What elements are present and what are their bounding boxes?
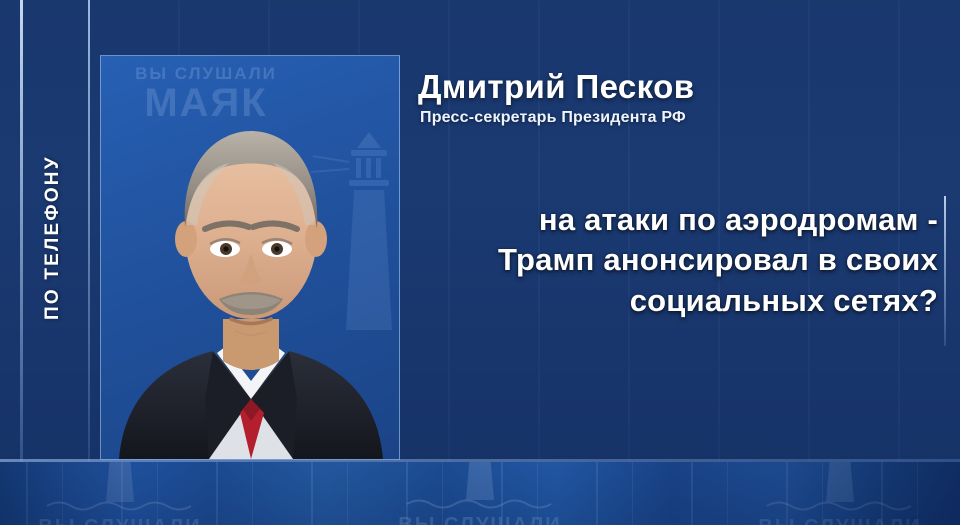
quote-line: на атаки по аэродромам - xyxy=(418,200,938,240)
quote-line: Трамп анонсировал в своих xyxy=(418,240,938,280)
quote-line: социальных сетях? xyxy=(418,281,938,321)
speaker-role: Пресс-секретарь Президента РФ xyxy=(420,109,686,127)
speaker-portrait-image xyxy=(101,99,400,459)
speaker-name: Дмитрий Песков xyxy=(418,68,694,106)
broadcast-graphic: ВЫ СЛУШАЛИ МАЯК xyxy=(0,0,960,525)
source-label-phone: ПО ТЕЛЕФОНУ xyxy=(42,155,64,320)
left-accent-rail xyxy=(20,0,23,462)
left-accent-rail-secondary xyxy=(88,0,90,462)
quote-block: на атаки по аэродромам - Трамп анонсиров… xyxy=(418,200,938,321)
quote-accent-rail xyxy=(944,196,946,346)
speaker-portrait-panel: ВЫ СЛУШАЛИ МАЯК xyxy=(100,55,400,460)
